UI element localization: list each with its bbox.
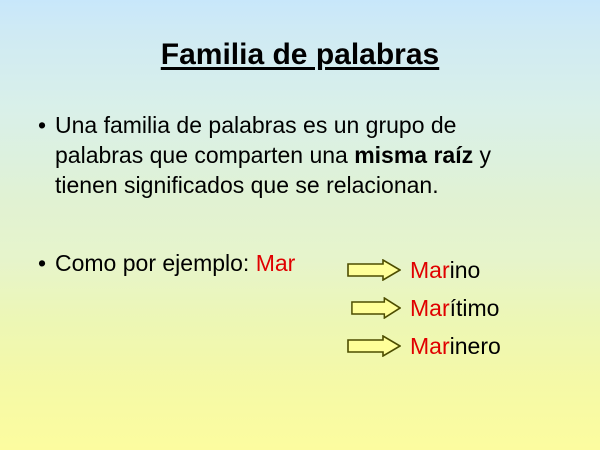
- derived-word: Marítimo: [410, 293, 499, 323]
- slide-canvas: Familia de palabras • Una familia de pal…: [0, 0, 600, 450]
- list-item: Marino: [347, 251, 480, 289]
- derived-word-root: Mar: [410, 333, 450, 359]
- definition-line-2-plain: palabras que comparten una: [55, 142, 354, 168]
- derived-word: Marino: [410, 255, 480, 285]
- bullet-item-definition: • Una familia de palabras es un grupo de…: [36, 110, 556, 200]
- page-title: Familia de palabras: [0, 38, 600, 72]
- list-item: Marinero: [347, 327, 501, 365]
- page-title-text: Familia de palabras: [161, 38, 439, 71]
- right-arrow-icon: [347, 335, 401, 357]
- definition-line-1: Una familia de palabras es un grupo de: [55, 112, 456, 138]
- derived-word-root: Mar: [410, 257, 450, 283]
- derived-words-list: Marino Marítimo Marinero: [0, 248, 600, 368]
- definition-emphasis: misma raíz: [354, 142, 473, 168]
- bullet-marker-icon: •: [36, 110, 55, 140]
- derived-word: Marinero: [410, 331, 501, 361]
- right-arrow-icon: [351, 297, 401, 319]
- bullet-item-definition-text: Una familia de palabras es un grupo de p…: [55, 110, 525, 200]
- derived-word-suffix: ino: [450, 257, 481, 283]
- derived-word-root: Mar: [410, 295, 450, 321]
- list-item: Marítimo: [347, 289, 499, 327]
- derived-word-suffix: inero: [450, 333, 501, 359]
- derived-word-suffix: ítimo: [450, 295, 500, 321]
- right-arrow-icon: [347, 259, 401, 281]
